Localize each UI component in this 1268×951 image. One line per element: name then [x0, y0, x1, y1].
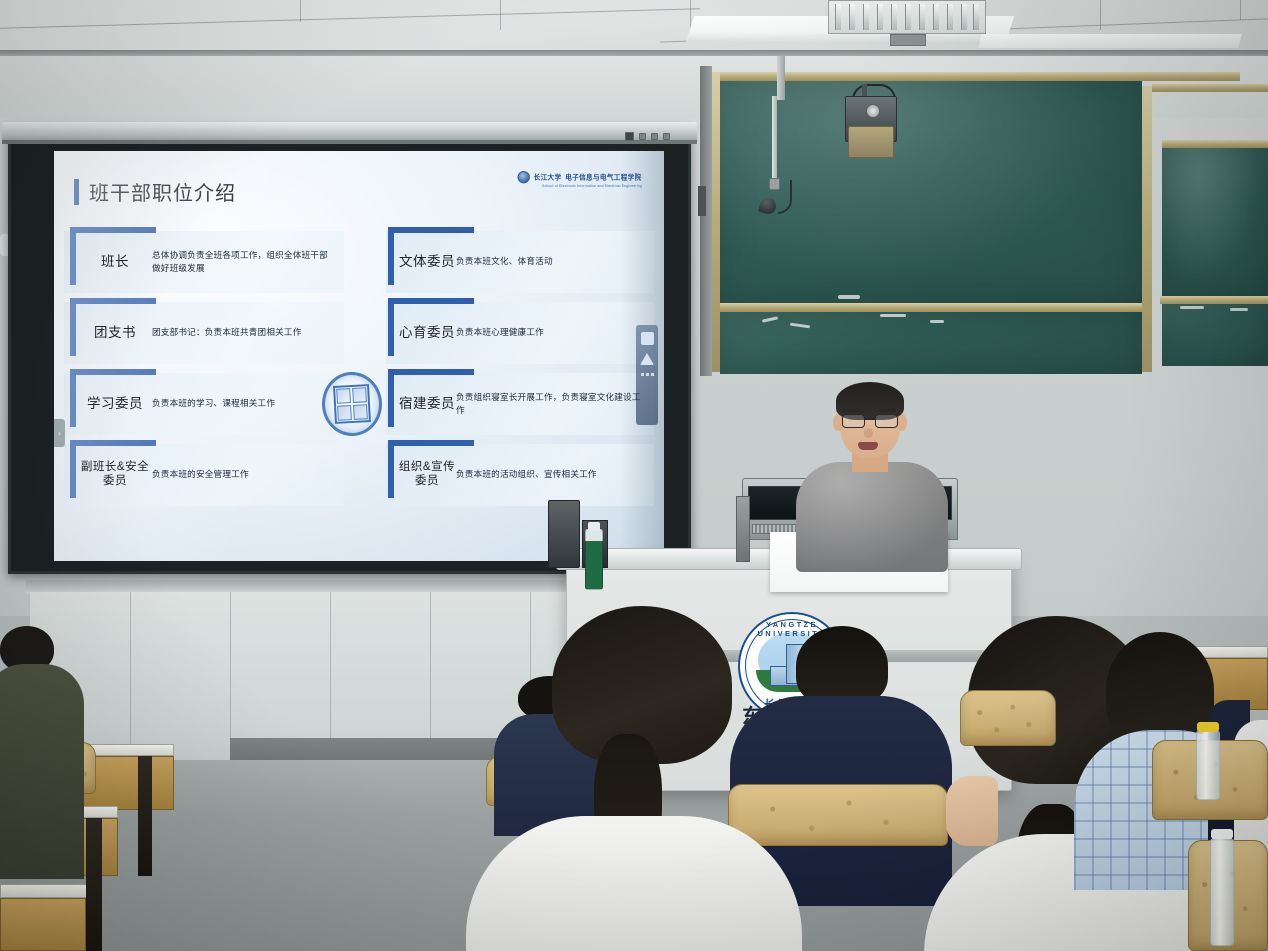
- whiteboard-top-frame: [2, 122, 697, 144]
- role-card: 宿建委员 负责组织寝室长开展工作，负责寝室文化建设工作: [386, 373, 654, 435]
- glasses-lens-right: [875, 414, 898, 428]
- chair: [960, 690, 1056, 746]
- water-bottle: [1196, 730, 1220, 800]
- chalkboard-tray-left: [720, 303, 1142, 312]
- projector-housing: [848, 126, 894, 158]
- role-title: 学习委员: [78, 396, 152, 412]
- glasses-lens-left: [842, 414, 865, 428]
- department-logo: 长江大学 电子信息与电气工程学院: [518, 171, 642, 183]
- role-card: 组织&宣传委员 负责本班的活动组织、宣传相关工作: [386, 444, 654, 506]
- desk-leg: [86, 818, 102, 951]
- desk-front-panel: [0, 898, 86, 951]
- student-hair: [796, 626, 888, 706]
- chalkboard-frame-right-inner: [1162, 140, 1268, 148]
- chalkboard-frame-right-top: [1152, 84, 1268, 92]
- role-description: 负责本班文化、体育活动: [456, 255, 654, 268]
- role-description: 负责本班的学习、课程相关工作: [152, 397, 344, 410]
- chalk-mark: [1180, 306, 1204, 309]
- microphone-pole: [772, 96, 777, 182]
- volume-icon[interactable]: [651, 133, 658, 140]
- roles-column-right: 文体委员 负责本班文化、体育活动 心育委员 负责本班心理健康工作 宿建委员 负责…: [386, 231, 654, 515]
- bottle-cap: [588, 522, 600, 531]
- role-description: 团支部书记：负责本班共青团相关工作: [152, 326, 344, 339]
- student-hand: [946, 776, 998, 846]
- glasses-bridge: [865, 418, 875, 420]
- lecturer-torso-shading: [796, 462, 948, 572]
- bottle-cap: [1197, 722, 1219, 732]
- page-title: 班干部职位介绍: [89, 177, 236, 206]
- student: [0, 626, 86, 876]
- role-title: 团支书: [78, 325, 152, 341]
- water-bottle: [1210, 838, 1234, 946]
- lecturer-mouth: [858, 442, 878, 450]
- projector-lens-icon: [866, 104, 880, 118]
- whiteboard-control-strip[interactable]: [625, 132, 670, 141]
- slide-title-group: 班干部职位介绍: [74, 177, 236, 206]
- desk-leg: [138, 756, 152, 876]
- role-title: 组织&宣传委员: [398, 461, 456, 488]
- chalk-mark: [930, 320, 944, 323]
- college-name-english: School of Electronic Information and Ele…: [542, 184, 642, 188]
- chalkboard-tray-right: [1160, 296, 1268, 304]
- ceiling-light-fixture-2: [978, 34, 1241, 48]
- student-torso: [0, 664, 84, 879]
- pen-icon[interactable]: [640, 353, 654, 365]
- title-accent-bar: [74, 179, 79, 205]
- role-title: 宿建委员: [398, 396, 456, 412]
- menu-icon[interactable]: [663, 133, 670, 140]
- role-card: 文体委员 负责本班文化、体育活动: [386, 231, 654, 293]
- university-seal-icon: [518, 171, 530, 183]
- lecturer-eyebrow-right: [878, 409, 896, 412]
- student: [466, 606, 806, 951]
- chalk-mark: [1230, 308, 1248, 311]
- role-description: 负责本班的安全管理工作: [152, 468, 344, 481]
- power-icon[interactable]: [625, 132, 634, 141]
- role-card: 团支书 团支部书记：负责本班共青团相关工作: [64, 302, 344, 364]
- student-torso: [466, 816, 802, 951]
- projector-mount-pole: [777, 56, 785, 100]
- air-vent-grille: [828, 0, 986, 34]
- role-description: 负责本班心理健康工作: [456, 326, 654, 339]
- chalkboard-right: [1162, 148, 1268, 296]
- speaker-left: [548, 500, 580, 568]
- chevron-right-icon[interactable]: ›: [54, 419, 65, 447]
- lecturer-nose: [864, 428, 873, 438]
- university-name: 长江大学: [534, 172, 562, 182]
- role-card: 副班长&安全委员 负责本班的安全管理工作: [64, 444, 344, 506]
- desk-surface: [0, 884, 88, 898]
- college-name: 电子信息与电气工程学院: [566, 172, 642, 182]
- glasses-icon: [841, 414, 899, 429]
- classroom-photo: 班干部职位介绍 长江大学 电子信息与电气工程学院 School of Elect…: [0, 0, 1268, 951]
- chalkboard-frame-left: [710, 72, 1240, 81]
- role-description: 总体协调负责全班各项工作，组织全体班干部做好班级发展: [152, 249, 344, 276]
- monitor-hinge: [736, 496, 750, 562]
- chalk-mark: [838, 295, 860, 299]
- water-bottle: [585, 528, 603, 590]
- role-title: 文体委员: [398, 254, 456, 270]
- role-description: 负责本班的活动组织、宣传相关工作: [456, 468, 654, 481]
- role-title: 副班长&安全委员: [78, 461, 152, 488]
- input-icon[interactable]: [639, 133, 646, 140]
- roles-column-left: 班长 总体协调负责全班各项工作，组织全体班干部做好班级发展 团支书 团支部书记：…: [64, 231, 344, 515]
- role-description: 负责组织寝室长开展工作，负责寝室文化建设工作: [456, 391, 654, 418]
- role-title: 心育委员: [398, 325, 456, 341]
- role-title: 班长: [78, 254, 152, 270]
- chalkboard-right-lower: [1162, 304, 1268, 366]
- role-card: 心育委员 负责本班心理健康工作: [386, 302, 654, 364]
- role-card: 班长 总体协调负责全班各项工作，组织全体班干部做好班级发展: [64, 231, 344, 293]
- bottle-cap: [1211, 829, 1233, 839]
- chalk-mark: [880, 314, 906, 317]
- grid-icon[interactable]: [641, 373, 654, 376]
- wall-corner-shadow: [700, 66, 712, 376]
- wall-plate: [698, 186, 706, 216]
- vent-control-box: [890, 34, 926, 46]
- lecturer-eyebrow-left: [843, 409, 861, 412]
- role-card: 学习委员 负责本班的学习、课程相关工作: [64, 373, 344, 435]
